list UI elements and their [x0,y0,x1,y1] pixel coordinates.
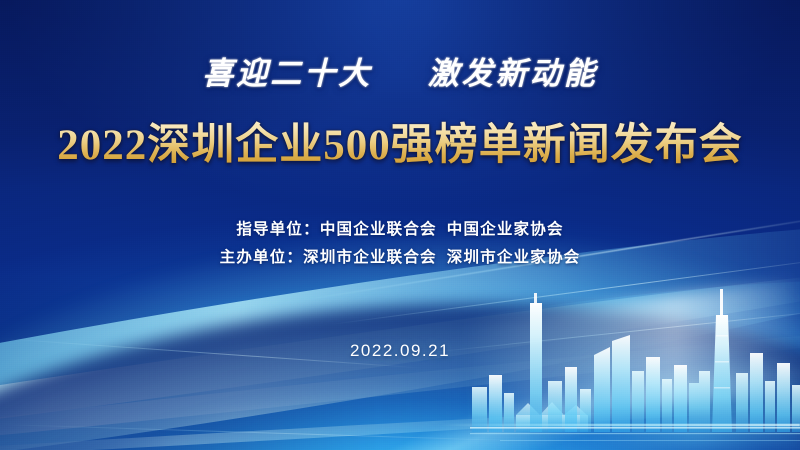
guidance-unit-line: 指导单位：中国企业联合会中国企业家协会 [0,216,800,244]
event-banner: 喜迎二十大 激发新动能 2022深圳企业500强榜单新闻发布会 指导单位：中国企… [0,0,800,450]
event-date: 2022.09.21 [0,341,800,361]
guidance-unit-label: 指导单位： [236,221,320,238]
host-org-2: 深圳市企业家协会 [447,249,581,266]
slogan-part-1: 喜迎二十大 [202,56,372,91]
host-unit-line: 主办单位：深圳市企业联合会深圳市企业家协会 [0,244,800,272]
slogan-part-2: 激发新动能 [428,56,598,91]
host-unit-label: 主办单位： [220,249,304,266]
guidance-org-2: 中国企业家协会 [447,221,564,238]
host-org-1: 深圳市企业联合会 [303,249,437,266]
slogan-line: 喜迎二十大 激发新动能 [0,48,800,93]
guidance-org-1: 中国企业联合会 [320,221,437,238]
page-title: 2022深圳企业500强榜单新闻发布会 [0,110,800,172]
organizer-block: 指导单位：中国企业联合会中国企业家协会 主办单位：深圳市企业联合会深圳市企业家协… [0,216,800,272]
